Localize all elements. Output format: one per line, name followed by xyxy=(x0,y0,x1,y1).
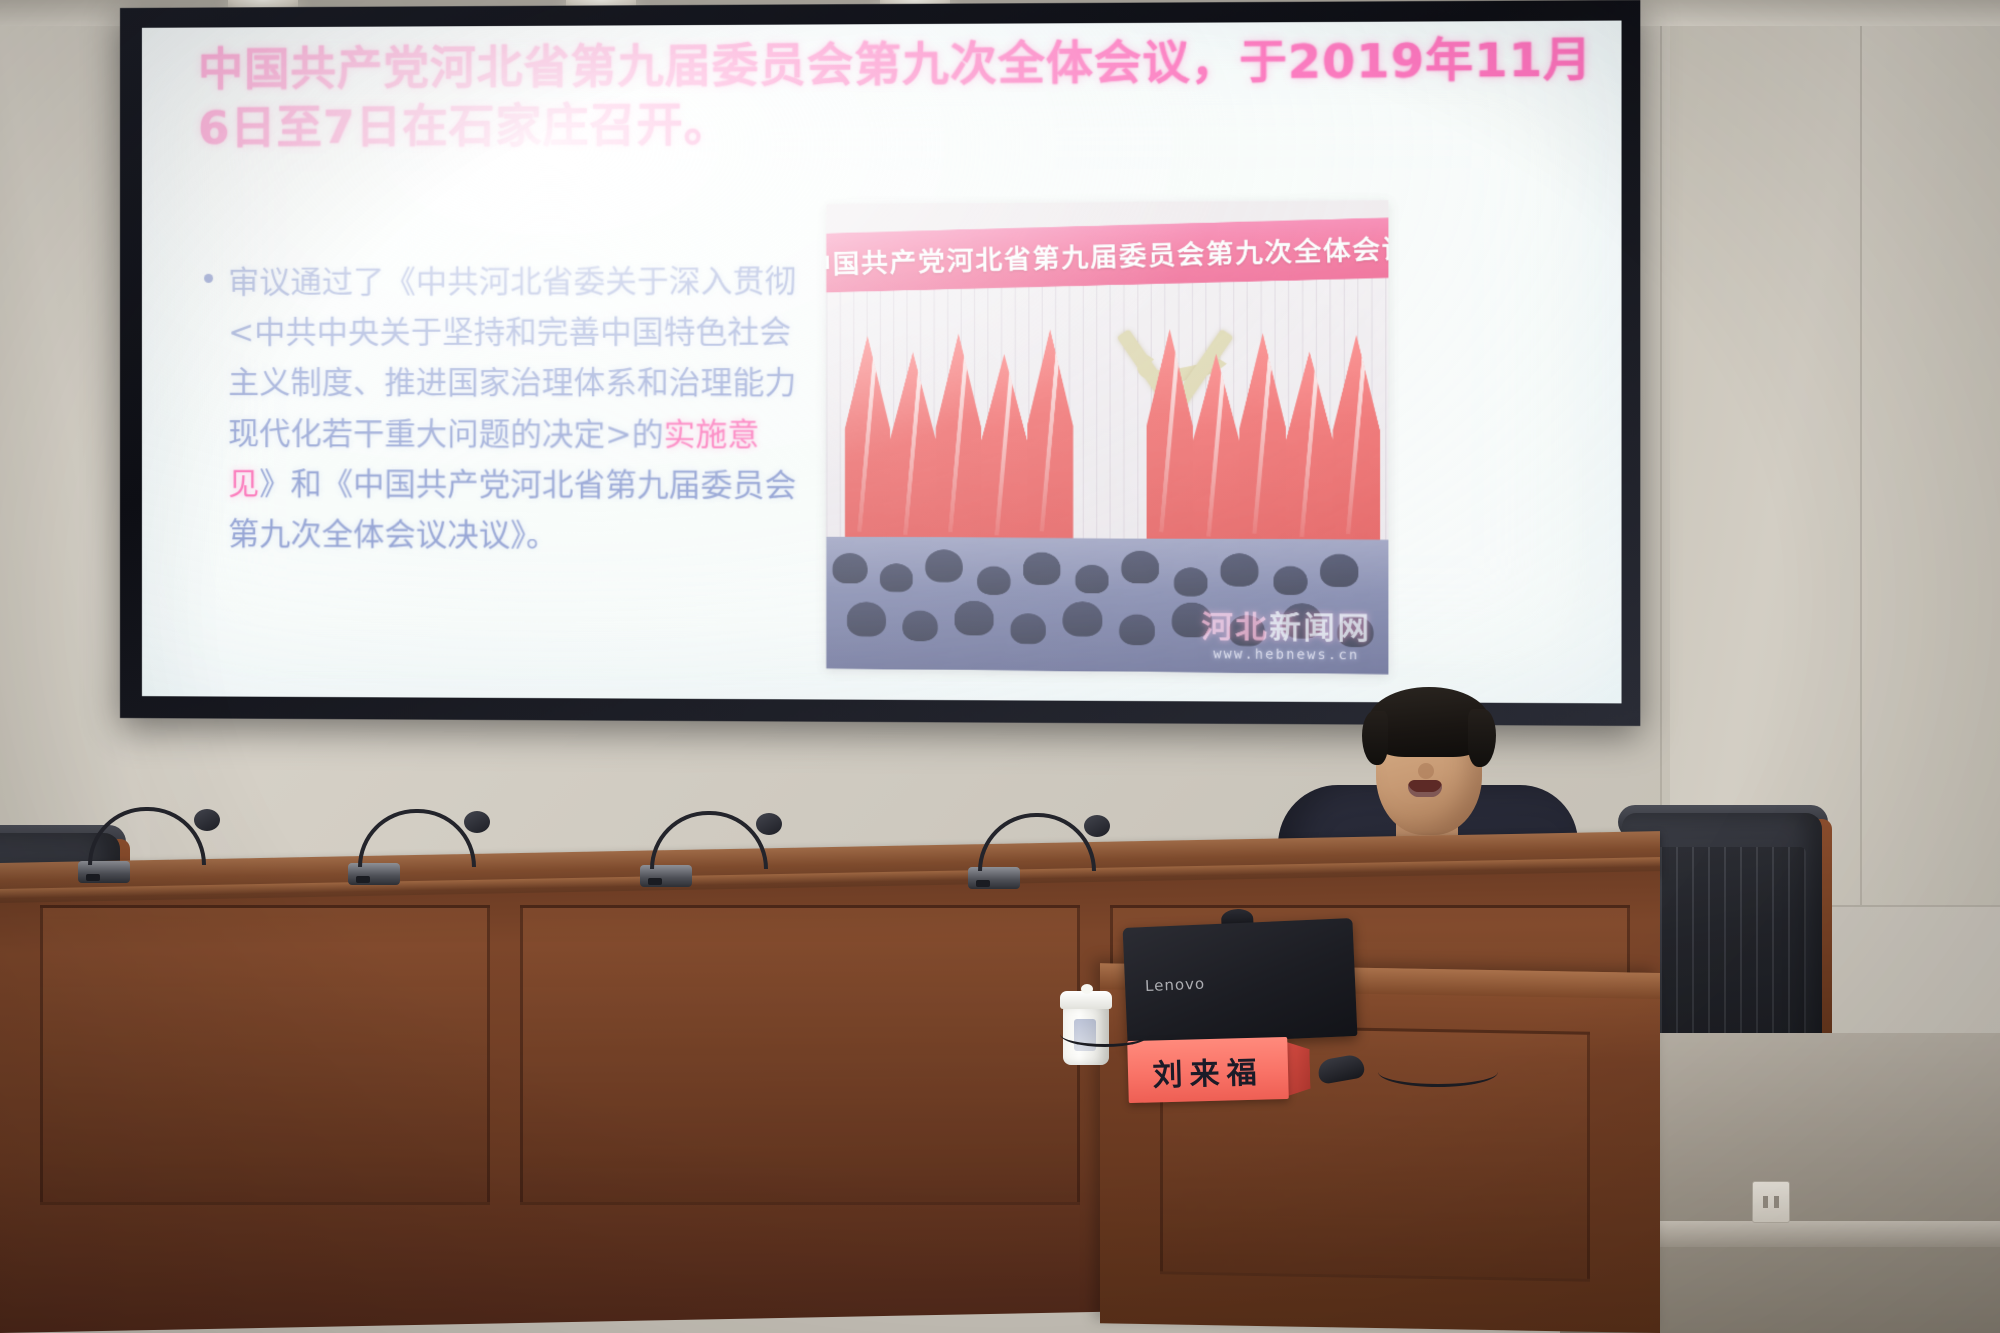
laptop-computer[interactable]: Lenovo xyxy=(1123,918,1358,1046)
laptop-brand-logo: Lenovo xyxy=(1145,975,1206,996)
slide-title: 中国共产党河北省第九届委员会第九次全体会议，于2019年11月6日至7日在石家庄… xyxy=(176,30,1608,157)
gooseneck-microphone-3[interactable] xyxy=(640,795,800,887)
desk-panel xyxy=(40,905,490,1205)
screen-surface: 中国共产党河北省第九届委员会第九次全体会议，于2019年11月6日至7日在石家庄… xyxy=(142,21,1622,704)
gooseneck-microphone-4[interactable] xyxy=(968,797,1128,889)
wall-power-socket xyxy=(1752,1181,1790,1223)
presentation-slide: 中国共产党河北省第九届委员会第九次全体会议，于2019年11月6日至7日在石家庄… xyxy=(142,21,1622,704)
right-wall-panel xyxy=(1670,0,2000,905)
wall-seam-vertical-4 xyxy=(1860,0,1862,905)
slide-photograph: 中国共产党河北省第九届委员会第九次全体会议 xyxy=(826,200,1388,674)
photo-audience: 河北新闻网 www.hebnews.cn xyxy=(826,537,1388,675)
cable xyxy=(1378,1057,1498,1087)
cable xyxy=(1060,1021,1150,1047)
speaker-nameplate: 刘来福 xyxy=(1127,1037,1289,1103)
watermark-brand-left: 河北 xyxy=(1201,610,1269,647)
desk-panel xyxy=(520,905,1080,1205)
nameplate-text: 刘来福 xyxy=(1127,1047,1288,1095)
slide-bullet-paragraph: 审议通过了《中共河北省委关于深入贯彻<中共中央关于坚持和完善中国特色社会主义制度… xyxy=(194,256,805,562)
bullet-marker xyxy=(204,274,213,283)
gooseneck-microphone-2[interactable] xyxy=(348,793,508,885)
conference-room-scene: 中国共产党河北省第九届委员会第九次全体会议，于2019年11月6日至7日在石家庄… xyxy=(0,0,2000,1333)
wall-seam-vertical-3 xyxy=(1660,0,1662,905)
speaker-mouth xyxy=(1408,780,1442,797)
projection-screen: 中国共产党河北省第九届委员会第九次全体会议，于2019年11月6日至7日在石家庄… xyxy=(120,0,1640,726)
gooseneck-microphone-1[interactable] xyxy=(78,791,238,883)
speaker-hair xyxy=(1368,687,1490,757)
photo-banner-text: 中国共产党河北省第九届委员会第九次全体会议 xyxy=(826,228,1388,283)
watermark-brand-right: 新闻网 xyxy=(1269,610,1371,647)
bullet-text-part-2: 》和《中国共产党河北省第九届委员会第九次全体会议决议》。 xyxy=(228,466,796,554)
